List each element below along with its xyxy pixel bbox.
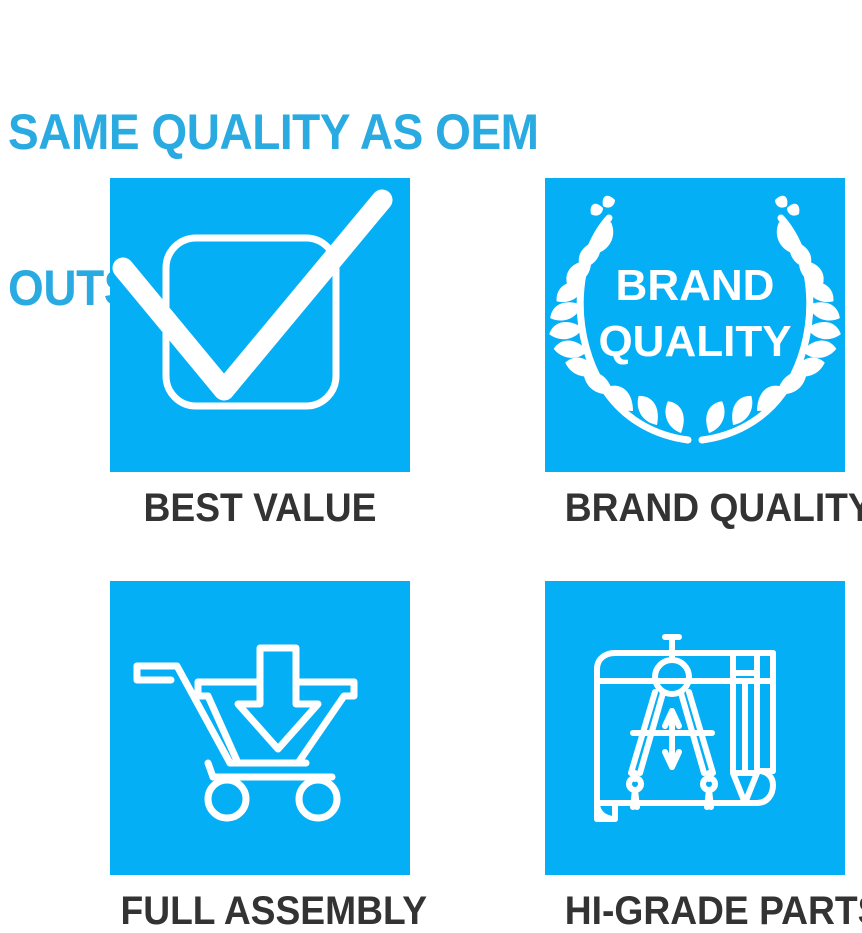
feature-tile-best-value (110, 178, 410, 472)
feature-label-brand-quality: BRAND QUALITY (565, 486, 844, 530)
feature-label-hi-grade-parts: HI-GRADE PARTS (565, 889, 844, 933)
feature-label-full-assembly: FULL ASSEMBLY (121, 889, 400, 933)
blueprint-compass-pencil-icon (545, 581, 845, 875)
feature-best-value[interactable]: BEST VALUE (110, 178, 410, 530)
wreath-text-quality: QUALITY (598, 317, 791, 366)
wreath-text-brand: BRAND (616, 261, 775, 310)
checkbox-check-icon (110, 178, 410, 472)
feature-tile-hi-grade-parts (545, 581, 845, 875)
laurel-wreath-icon: BRAND QUALITY (545, 178, 845, 472)
feature-tile-full-assembly (110, 581, 410, 875)
feature-full-assembly[interactable]: FULL ASSEMBLY (110, 581, 410, 933)
feature-tile-brand-quality: BRAND QUALITY (545, 178, 845, 472)
shopping-cart-download-icon (110, 581, 410, 875)
feature-brand-quality[interactable]: BRAND QUALITY BRAND QUALITY (545, 178, 845, 530)
feature-grid: BEST VALUE (0, 0, 862, 929)
feature-hi-grade-parts[interactable]: HI-GRADE PARTS (545, 581, 845, 933)
feature-label-best-value: BEST VALUE (121, 486, 400, 530)
